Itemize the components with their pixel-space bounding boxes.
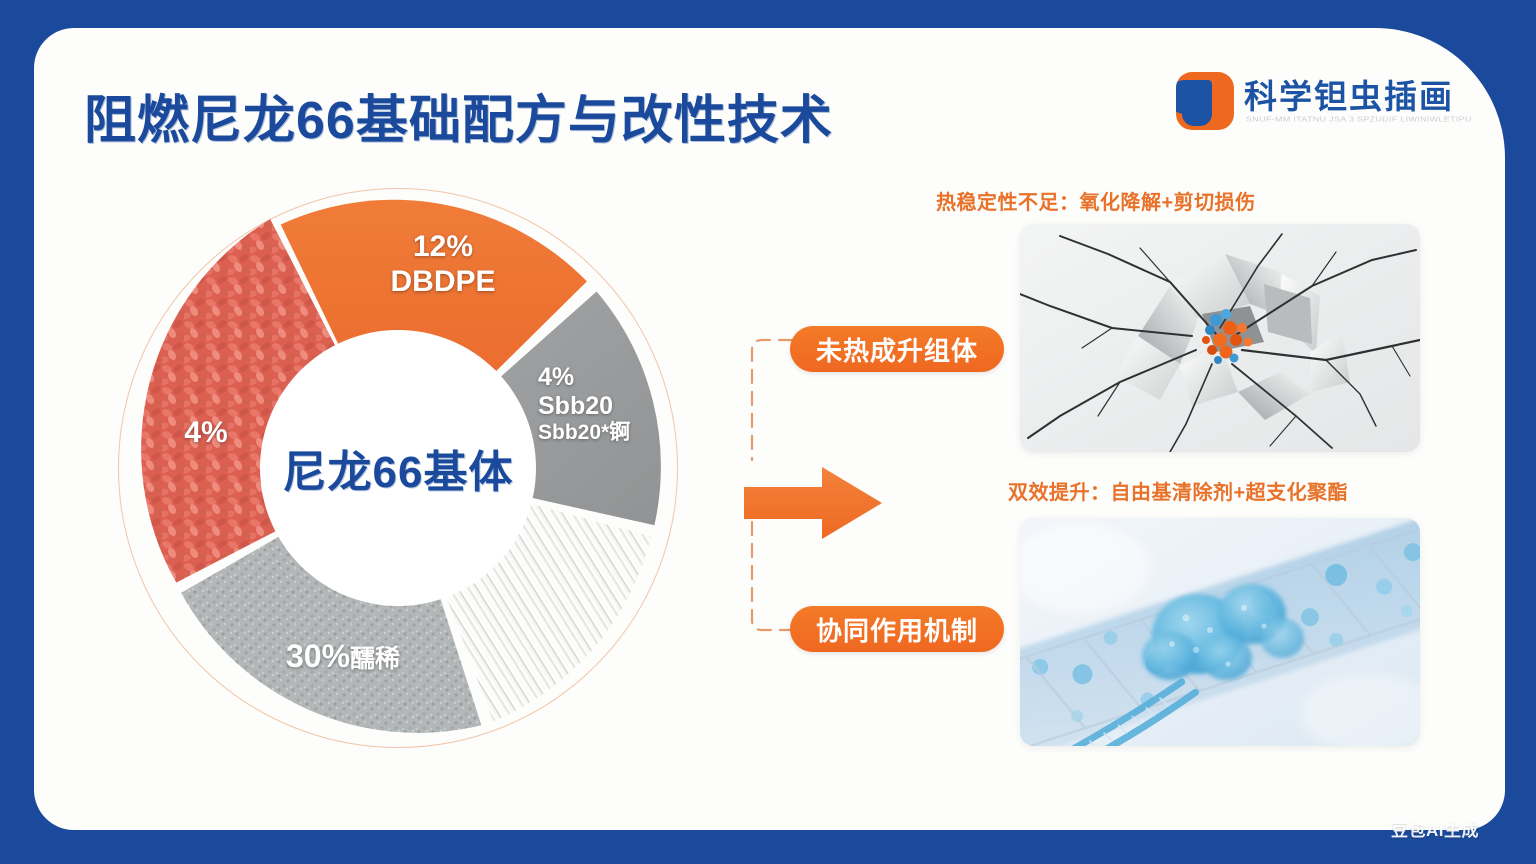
page-title: 阻燃尼龙66基础配方与改性技术 bbox=[84, 78, 833, 153]
caption-dual-enhancement: 双效提升：自由基清除剂+超支化聚酯 bbox=[1008, 476, 1348, 505]
donut-center-label: 尼龙66基体 bbox=[118, 436, 678, 500]
connector-line-top bbox=[752, 340, 792, 460]
blue-microscopic-fiber-photo bbox=[1020, 518, 1420, 746]
cracked-surface-with-molecule-photo bbox=[1020, 224, 1420, 452]
pill-button-bottom[interactable]: 协同作用机制 bbox=[790, 606, 1004, 652]
logo-subtitle: SNUF-MM ITATNU JSA 3 SPZUDIF LIWINIWLETI… bbox=[1246, 115, 1472, 124]
s-logo-icon bbox=[1176, 72, 1234, 130]
watermark: 豆包AI生成 bbox=[1391, 816, 1479, 841]
caption-thermal-instability: 热稳定性不足：氧化降解+剪切损伤 bbox=[936, 186, 1256, 215]
arrow-right-icon bbox=[744, 465, 884, 541]
donut-chart: 尼龙66基体 12% DBDPE 4% Sbb20 Sbb20*锕 4% 30%… bbox=[118, 188, 678, 748]
brand-logo: 科学钽虫插画 SNUF-MM ITATNU JSA 3 SPZUDIF LIWI… bbox=[1176, 68, 1476, 140]
logo-text: 科学钽虫插画 bbox=[1244, 70, 1454, 118]
pill-button-top[interactable]: 未热成升组体 bbox=[790, 326, 1004, 372]
